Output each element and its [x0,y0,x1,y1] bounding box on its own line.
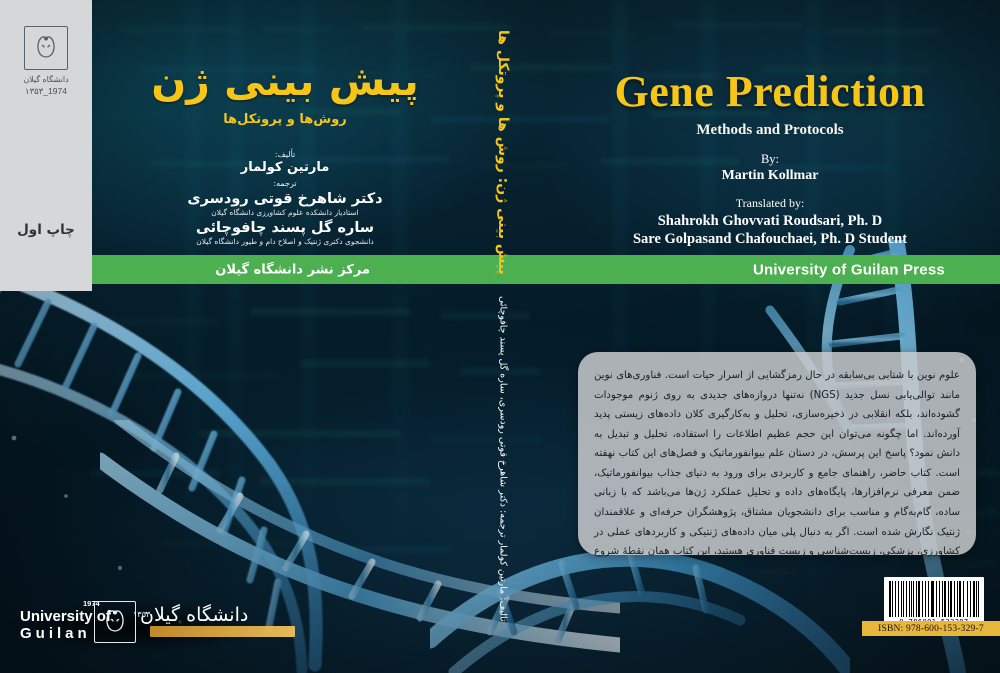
guilan-emblem-icon [24,26,68,70]
spine-title-fa: پیش بینی ژن: روش ها و پروتکل ها [495,30,511,275]
book-subtitle-en: Methods and Protocols [540,122,1000,139]
translator-1-name-en: Shahrokh Ghovvati Roudsari, Ph. D [540,213,1000,230]
publisher-name-en: University of Guilan Press [753,261,945,278]
by-label: By: [540,152,1000,167]
spine-credits-fa: تالیف: مارتین کولمار ترجمه: دکتر شاهرخ ق… [498,296,509,622]
translator-2-name-en: Sare Golpasand Chafouchaei, Ph. D Studen… [540,231,1000,248]
guilan-emblem-icon-bottom [94,601,136,643]
edition-label: چاپ اول [0,222,92,238]
lockup-name-fa: دانشگاه گیلان [140,604,248,626]
translator-label-fa: ترجمه: [100,179,470,188]
blurb-text-fa: علوم نوین با شتابی بی‌سابقه در حال رمزگش… [578,352,976,581]
publisher-name-fa: مرکز نشر دانشگاه گیلان [215,262,370,277]
book-title-fa: پیش بینی ژن [100,60,470,103]
book-title-en: Gene Prediction [540,66,1000,117]
front-cover-title-block: Gene Prediction Methods and Protocols By… [540,0,1000,255]
guilan-logo-name-fa: دانشگاه گیلان [13,75,79,84]
translator-2-name-fa: ساره گل پسند چافوچائی [100,220,470,236]
book-spine: پیش بینی ژن: روش ها و پروتکل ها تالیف: م… [470,0,536,673]
translator-1-affiliation-fa: استادیار دانشکده علوم کشاورزی دانشگاه گی… [100,208,470,217]
left-flap: دانشگاه گیلان ۱۳۵۳_1974 چاپ اول [0,0,92,291]
byline-en: By: Martin Kollmar [540,152,1000,184]
isbn-label: ISBN: 978-600-153-329-7 [862,621,1000,636]
author-name-en: Martin Kollmar [540,168,1000,184]
book-cover: دانشگاه گیلان ۱۳۵۳_1974 چاپ اول مرکز نشر… [0,0,1000,673]
author-label-fa: تألیف: [100,150,470,159]
translated-by-label: Translated by: [540,196,1000,211]
translators-en: Translated by: Shahrokh Ghovvati Roudsar… [540,196,1000,248]
guilan-logo-years: ۱۳۵۳_1974 [13,86,79,97]
publisher-band: مرکز نشر دانشگاه گیلان University of Gui… [92,255,1000,284]
author-name-fa: مارتین کولمار [100,160,470,175]
translator-1-name-fa: دکتر شاهرخ قوتی رودسری [100,191,470,207]
translator-2-affiliation-fa: دانشجوی دکتری ژنتیک و اصلاح دام و طیور د… [100,237,470,246]
publisher-lockup: 1974 University of Guilan ۱۳۵۳ دانشگاه گ… [0,592,300,664]
guilan-logo-flap: دانشگاه گیلان ۱۳۵۳_1974 [13,26,79,97]
barcode-bars [889,581,979,617]
back-cover-blurb-box: علوم نوین با شتابی بی‌سابقه در حال رمزگش… [578,352,976,555]
credits-fa: تألیف: مارتین کولمار ترجمه: دکتر شاهرخ ق… [100,146,470,246]
book-subtitle-fa: روش‌ها و پروتکل‌ها [100,112,470,127]
lockup-gold-bar [150,626,295,637]
back-cover-title-block: پیش بینی ژن روش‌ها و پروتکل‌ها تألیف: ما… [100,0,470,255]
